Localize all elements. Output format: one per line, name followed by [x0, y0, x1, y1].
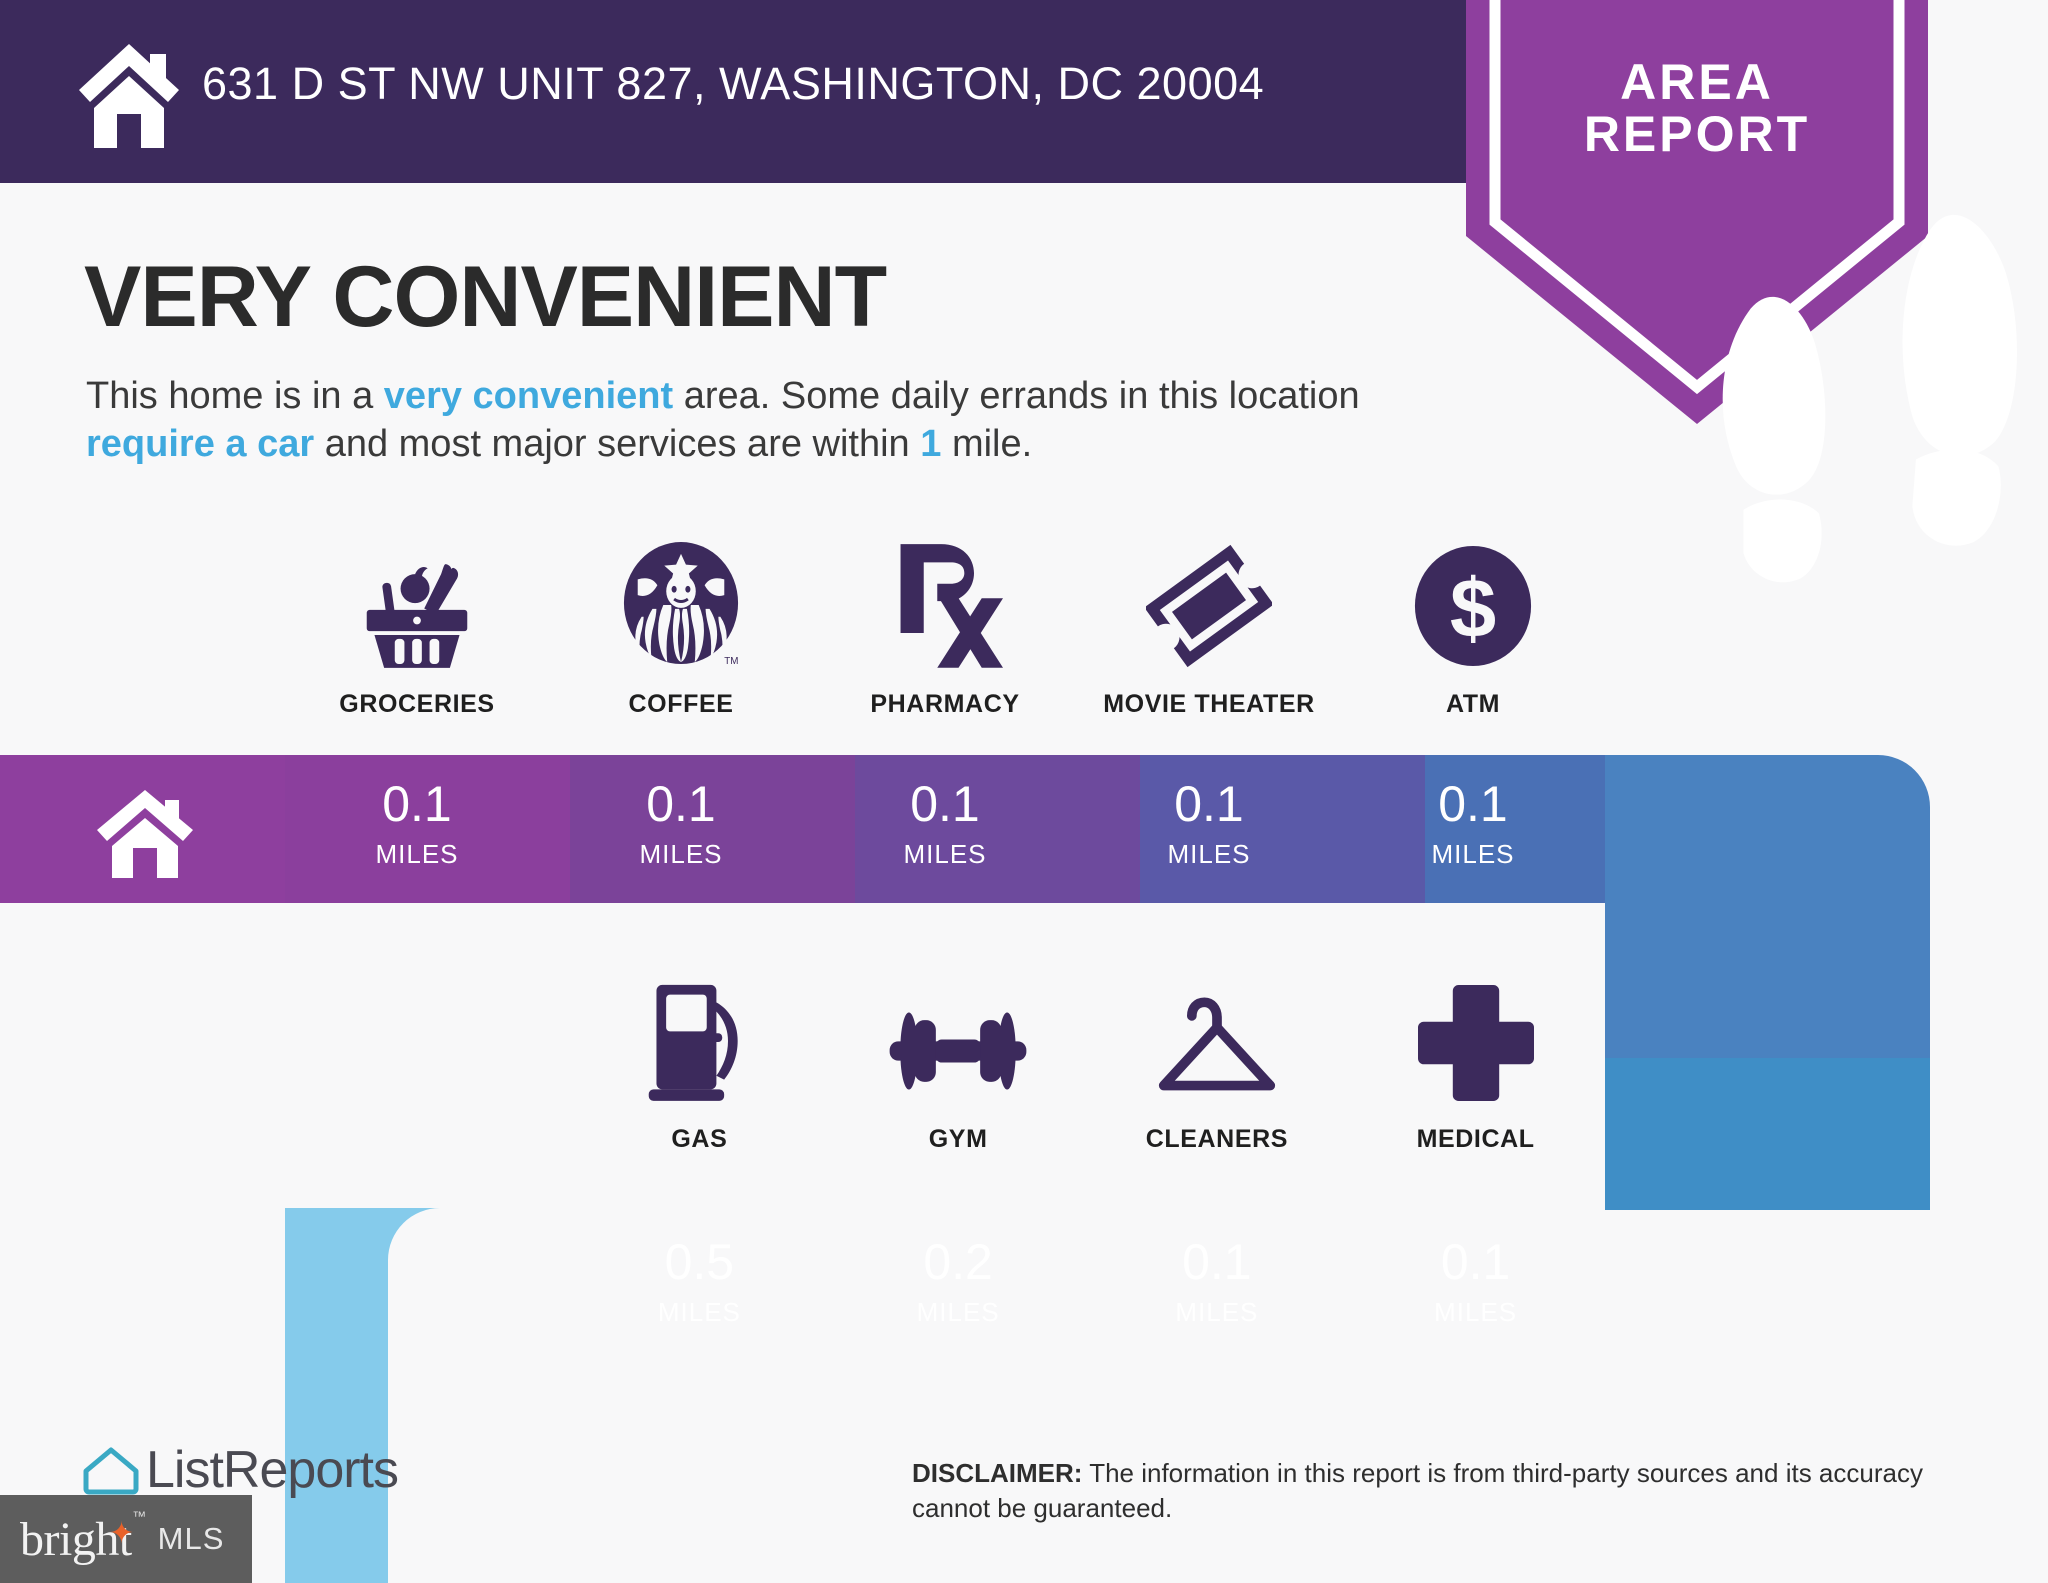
amenity-movie-theater: MOVIE THEATER [1077, 540, 1341, 719]
area-report-page: 631 D ST NW UNIT 827, WASHINGTON, DC 200… [0, 0, 2048, 1583]
desc-highlight-1: very convenient [384, 375, 673, 417]
distance-value: 0.1 [910, 779, 980, 829]
amenity-label: MOVIE THEATER [1103, 690, 1315, 719]
listreports-house-icon [82, 1445, 140, 1495]
distance-value: 0.1 [382, 779, 452, 829]
area-report-badge: AREA REPORT [1466, 0, 1928, 424]
home-icon [76, 36, 182, 148]
badge-title: AREA REPORT [1466, 56, 1928, 160]
property-address: 631 D ST NW UNIT 827, WASHINGTON, DC 200… [202, 58, 1264, 110]
header-bar: 631 D ST NW UNIT 827, WASHINGTON, DC 200… [0, 0, 1505, 183]
distance-value: 0.1 [1182, 1237, 1252, 1287]
distance-cell: 0.1 MILES [1341, 750, 1605, 898]
svg-text:TM: TM [724, 656, 738, 667]
amenity-label: GROCERIES [339, 690, 494, 719]
distance-value: 0.1 [1441, 1237, 1511, 1287]
desc-part-3: and most major services are within [314, 423, 920, 465]
distance-value: 0.1 [646, 779, 716, 829]
bright-mls-watermark: bright ✦ ™ MLS [0, 1495, 252, 1583]
desc-part-1: This home is in a [86, 375, 384, 417]
amenity-groceries: GROCERIES [285, 540, 549, 719]
amenity-atm: $ ATM [1341, 540, 1605, 719]
distance-value: 0.5 [665, 1237, 735, 1287]
distance-unit: MILES [917, 1297, 1000, 1328]
footprints-icon [1649, 208, 1745, 326]
distance-cell: 0.1 MILES [1346, 1208, 1605, 1356]
distance-unit: MILES [903, 839, 986, 870]
amenity-label: PHARMACY [870, 690, 1019, 719]
amenity-pharmacy: PHARMACY [813, 540, 1077, 719]
distance-unit: MILES [375, 839, 458, 870]
bright-star-icon: ✦ [109, 1516, 134, 1551]
distance-unit: MILES [639, 839, 722, 870]
distance-unit: MILES [658, 1297, 741, 1328]
distance-cell: 0.1 MILES [1077, 750, 1341, 898]
desc-highlight-2: require a car [86, 423, 314, 465]
disclaimer-label: DISCLAIMER: [912, 1458, 1082, 1488]
desc-part-2: area. Some daily errands in this locatio… [673, 375, 1359, 417]
desc-part-4: mile. [941, 423, 1032, 465]
distance-unit: MILES [1175, 1297, 1258, 1328]
badge-title-line1: AREA [1466, 56, 1928, 108]
distance-cell: 0.2 MILES [829, 1208, 1088, 1356]
amenity-icon-row-1: GROCERIES [285, 540, 1605, 719]
listreports-wordmark: ListReports [146, 1440, 398, 1500]
distance-value: 0.1 [1174, 779, 1244, 829]
badge-title-line2: REPORT [1466, 108, 1928, 160]
home-icon [95, 786, 195, 878]
distance-cell: 0.5 MILES [570, 1208, 829, 1356]
rx-prescription-icon [887, 540, 1003, 668]
distance-cell: 0.1 MILES [549, 750, 813, 898]
movie-ticket-icon [1146, 540, 1272, 668]
distance-row-1: 0.1 MILES 0.1 MILES 0.1 MILES 0.1 MILES … [285, 750, 1605, 898]
disclaimer: DISCLAIMER: The information in this repo… [912, 1456, 1972, 1525]
dollar-circle-icon: $ [1413, 540, 1533, 668]
distance-cell: 0.1 MILES [1088, 1208, 1347, 1356]
distance-unit: MILES [1431, 839, 1514, 870]
grocery-basket-icon [359, 540, 475, 668]
distance-row-2: 0.5 MILES 0.2 MILES 0.1 MILES 0.1 MILES [570, 1208, 1605, 1356]
distance-unit: MILES [1434, 1297, 1517, 1328]
mls-label: MLS [158, 1521, 225, 1557]
starbucks-siren-icon: TM [620, 540, 742, 668]
page-description: This home is in a very convenient area. … [86, 372, 1466, 469]
bright-wordmark: bright ✦ ™ [20, 1512, 132, 1567]
listreports-logo: ListReports [82, 1440, 398, 1500]
ribbon-right-bend [1605, 755, 1930, 1213]
trademark-symbol: ™ [132, 1508, 146, 1524]
amenity-label: COFFEE [629, 690, 734, 719]
page-title: VERY CONVENIENT [84, 248, 886, 347]
distance-value: 0.2 [923, 1237, 993, 1287]
distance-unit: MILES [1167, 839, 1250, 870]
distance-cell: 0.1 MILES [285, 750, 549, 898]
desc-highlight-3: 1 [920, 423, 941, 465]
amenity-label: ATM [1446, 690, 1500, 719]
distance-value: 0.1 [1438, 779, 1508, 829]
amenity-coffee: TM COFFEE [549, 540, 813, 719]
distance-cell: 0.1 MILES [813, 750, 1077, 898]
svg-text:$: $ [1450, 562, 1496, 655]
